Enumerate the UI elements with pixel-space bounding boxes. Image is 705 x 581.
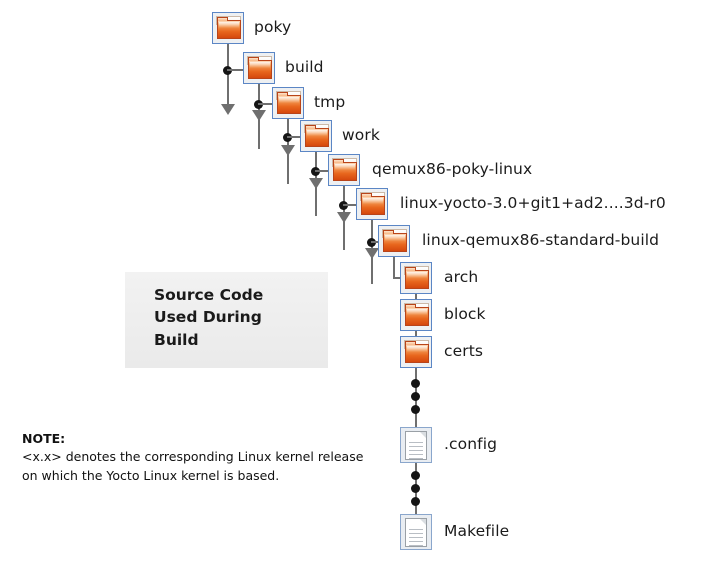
callout-line-1: Source Code <box>154 284 263 306</box>
tree-node-label: .config <box>444 437 497 453</box>
ellipsis-dot-4 <box>411 471 420 480</box>
tree-node-work[interactable]: work <box>300 120 380 152</box>
arrowhead-tmp <box>281 145 295 156</box>
note-title: NOTE: <box>22 430 382 448</box>
folder-icon <box>378 225 410 257</box>
tree-node-linux-qemux86-standard-build[interactable]: linux-qemux86-standard-build <box>378 225 659 257</box>
tree-node-block[interactable]: block <box>400 299 486 331</box>
tree-node-qemux86-poky-linux[interactable]: qemux86-poky-linux <box>328 154 532 186</box>
folder-icon <box>328 154 360 186</box>
arrowhead-linux-yocto <box>365 248 379 259</box>
note-body: <x.x> denotes the corresponding Linux ke… <box>22 448 382 486</box>
tree-node-label: build <box>285 60 324 76</box>
callout-line-3: Build <box>154 329 263 351</box>
tree-node-linux-yocto[interactable]: linux-yocto-3.0+git1+ad2....3d-r0 <box>356 188 666 220</box>
directory-tree-diagram: poky build tmp work qemux86-poky-linux l… <box>0 0 705 581</box>
folder-icon <box>243 52 275 84</box>
arrowhead-work <box>309 178 323 189</box>
tree-node-label: Makefile <box>444 524 509 540</box>
folder-icon <box>356 188 388 220</box>
folder-icon <box>400 336 432 368</box>
source-code-callout-text: Source Code Used During Build <box>154 284 263 351</box>
note-block: NOTE: <x.x> denotes the corresponding Li… <box>22 430 382 486</box>
callout-line-2: Used During <box>154 306 263 328</box>
ellipsis-dot-2 <box>411 392 420 401</box>
ellipsis-dot-3 <box>411 405 420 414</box>
ellipsis-dot-6 <box>411 497 420 506</box>
tree-node-label: block <box>444 307 486 323</box>
tree-node-label: tmp <box>314 95 345 111</box>
ellipsis-dot-1 <box>411 379 420 388</box>
tree-node-label: work <box>342 128 380 144</box>
tree-node-label: linux-qemux86-standard-build <box>422 233 659 249</box>
connector-line-poky <box>227 44 229 112</box>
source-code-callout: Source Code Used During Build <box>125 272 328 368</box>
folder-icon <box>400 262 432 294</box>
tree-node-arch[interactable]: arch <box>400 262 478 294</box>
tree-node-build[interactable]: build <box>243 52 324 84</box>
ellipsis-dot-5 <box>411 484 420 493</box>
arrowhead-build <box>252 110 266 121</box>
folder-icon <box>300 120 332 152</box>
tree-node-poky[interactable]: poky <box>212 12 291 44</box>
tree-node-certs[interactable]: certs <box>400 336 483 368</box>
tree-node-label: certs <box>444 344 483 360</box>
tree-node-makefile[interactable]: Makefile <box>400 514 509 550</box>
connector-line-std-build <box>393 257 395 279</box>
tree-node-label: linux-yocto-3.0+git1+ad2....3d-r0 <box>400 196 666 212</box>
tree-node-tmp[interactable]: tmp <box>272 87 345 119</box>
tree-node-label: arch <box>444 270 478 286</box>
tree-node-config[interactable]: .config <box>400 427 497 463</box>
arrowhead-qemux86 <box>337 212 351 223</box>
tree-node-label: qemux86-poky-linux <box>372 162 532 178</box>
file-icon <box>400 427 432 463</box>
arrowhead-poky <box>221 104 235 115</box>
tree-node-label: poky <box>254 20 291 36</box>
file-icon <box>400 514 432 550</box>
folder-icon <box>400 299 432 331</box>
folder-icon <box>272 87 304 119</box>
folder-icon <box>212 12 244 44</box>
